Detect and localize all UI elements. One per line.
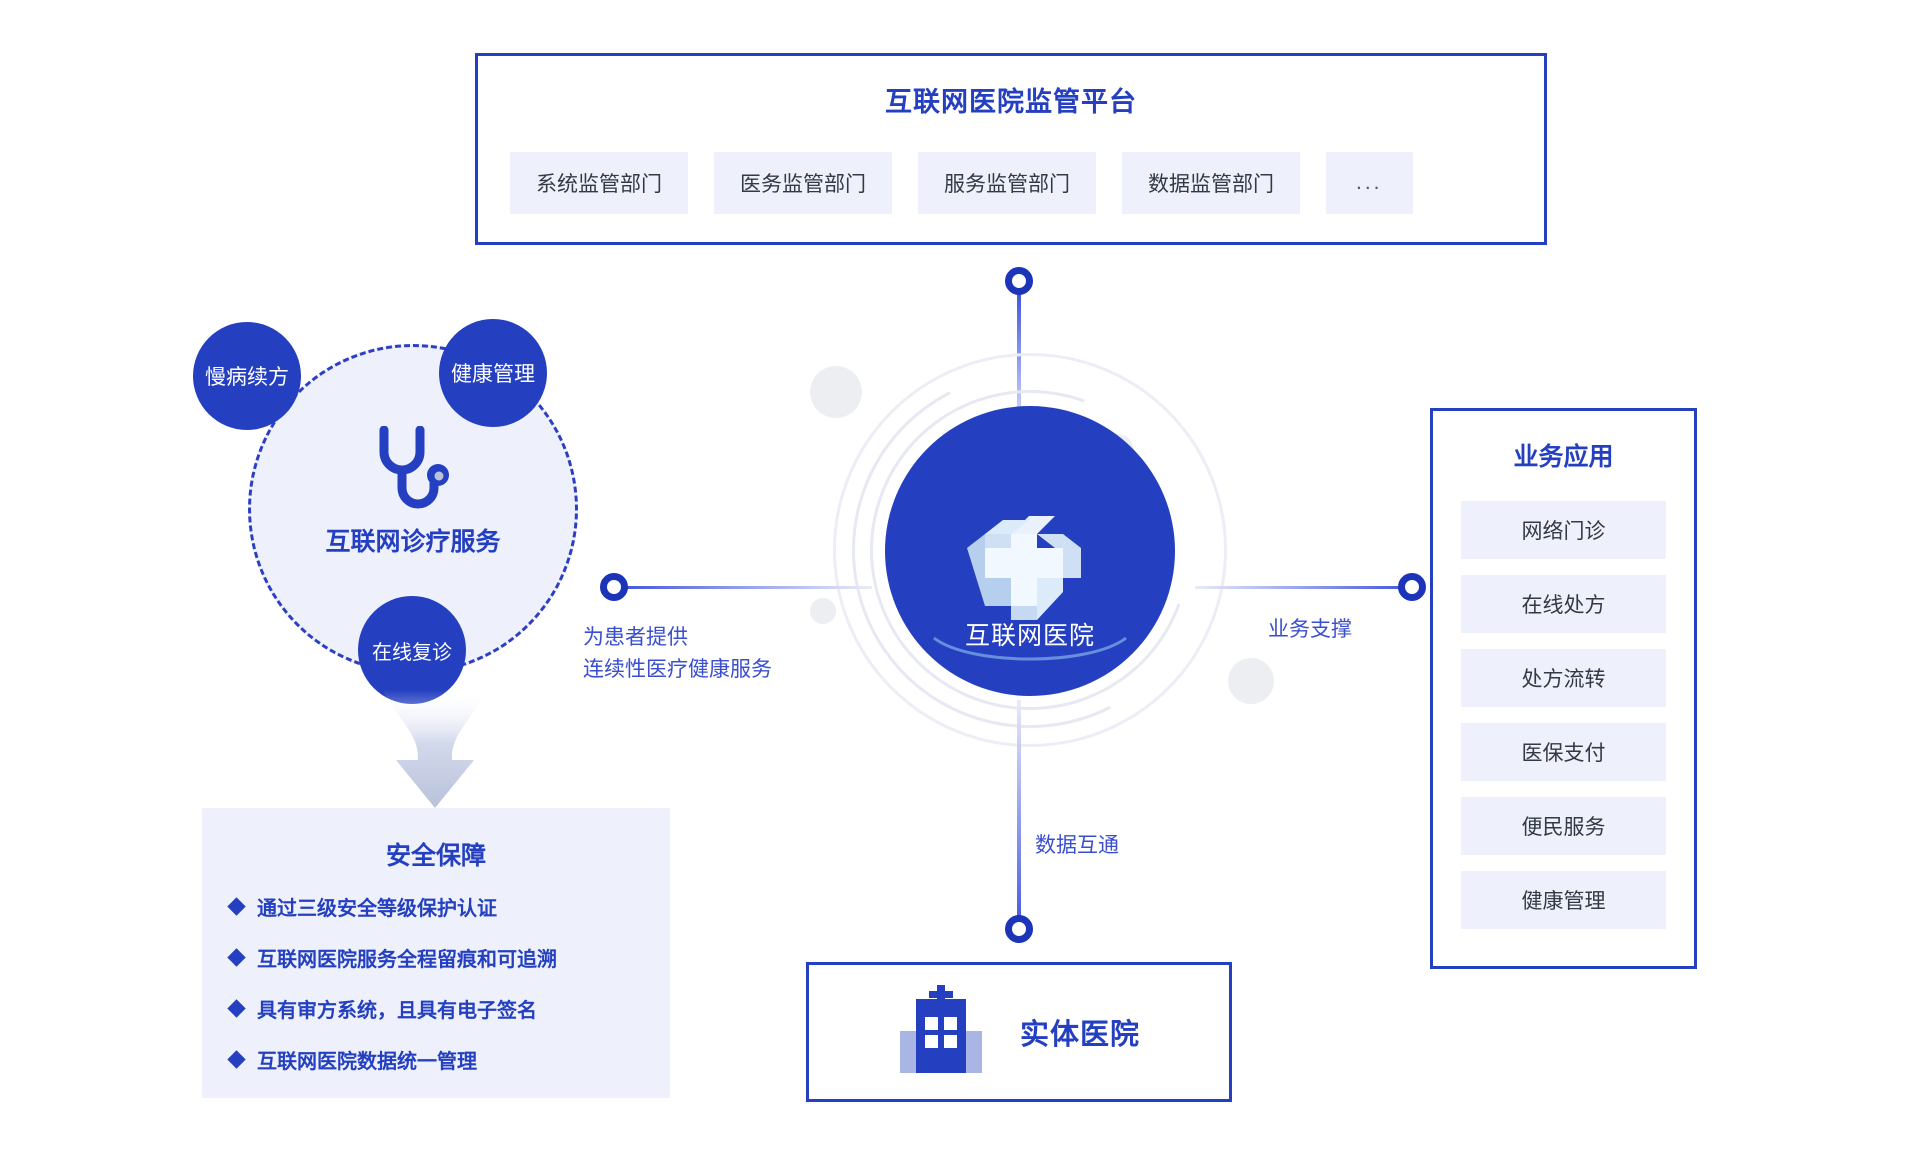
supervision-chip-service[interactable]: 服务监管部门 xyxy=(918,152,1096,214)
connector-node-top xyxy=(1005,267,1033,295)
supervision-department-chip-list: 系统监管部门 医务监管部门 服务监管部门 数据监管部门 ... xyxy=(510,152,1512,214)
connector-line-right xyxy=(1195,586,1409,589)
supervision-platform-title: 互联网医院监管平台 xyxy=(478,80,1544,119)
connector-line-left xyxy=(622,586,872,589)
list-item: 通过三级安全等级保护认证 xyxy=(230,892,660,921)
cluster-node-chronic-prescription[interactable]: 慢病续方 xyxy=(193,322,301,430)
stethoscope-icon xyxy=(376,426,452,521)
business-item-online-prescription[interactable]: 在线处方 xyxy=(1461,575,1666,633)
diamond-bullet-icon xyxy=(227,897,245,915)
connector-label-left-line2: 连续性医疗健康服务 xyxy=(583,654,772,686)
connector-line-bottom xyxy=(1017,700,1021,930)
medical-cross-3d-icon xyxy=(967,502,1093,627)
diagram-canvas: 互联网医院监管平台 系统监管部门 医务监管部门 服务监管部门 数据监管部门 ..… xyxy=(0,0,1929,1150)
supervision-platform-panel: 互联网医院监管平台 系统监管部门 医务监管部门 服务监管部门 数据监管部门 ..… xyxy=(475,53,1547,245)
supervision-chip-system[interactable]: 系统监管部门 xyxy=(510,152,688,214)
cluster-title: 互联网诊疗服务 xyxy=(248,522,578,558)
security-item-label: 互联网医院服务全程留痕和可追溯 xyxy=(257,943,557,972)
business-item-online-clinic[interactable]: 网络门诊 xyxy=(1461,501,1666,559)
entity-hospital-label: 实体医院 xyxy=(1020,1011,1140,1053)
security-item-label: 通过三级安全等级保护认证 xyxy=(257,892,497,921)
hub-label: 互联网医院 xyxy=(885,616,1175,652)
list-item: 互联网医院数据统一管理 xyxy=(230,1045,660,1074)
connector-node-left xyxy=(600,573,628,601)
business-application-title: 业务应用 xyxy=(1433,437,1694,473)
supervision-chip-medical[interactable]: 医务监管部门 xyxy=(714,152,892,214)
business-item-convenience-service[interactable]: 便民服务 xyxy=(1461,797,1666,855)
diamond-bullet-icon xyxy=(227,948,245,966)
diamond-bullet-icon xyxy=(227,1050,245,1068)
business-application-list: 网络门诊 在线处方 处方流转 医保支付 便民服务 健康管理 xyxy=(1461,501,1666,945)
internet-diagnosis-cluster: 互联网诊疗服务 慢病续方 健康管理 在线复诊 xyxy=(248,344,578,674)
security-item-label: 互联网医院数据统一管理 xyxy=(257,1045,477,1074)
funnel-arrow-down-icon xyxy=(380,690,490,815)
supervision-chip-more[interactable]: ... xyxy=(1326,152,1413,214)
security-item-label: 具有审方系统，且具有电子签名 xyxy=(257,994,537,1023)
business-item-insurance-payment[interactable]: 医保支付 xyxy=(1461,723,1666,781)
connector-label-right: 业务支撑 xyxy=(1268,614,1352,646)
connector-node-bottom xyxy=(1005,915,1033,943)
security-assurance-panel: 安全保障 通过三级安全等级保护认证 互联网医院服务全程留痕和可追溯 具有审方系统… xyxy=(202,808,670,1098)
entity-hospital-panel: 实体医院 xyxy=(806,962,1232,1102)
hub-core-circle[interactable]: 互联网医院 xyxy=(885,406,1175,696)
security-assurance-title: 安全保障 xyxy=(202,836,670,872)
connector-label-left: 为患者提供 连续性医疗健康服务 xyxy=(583,622,772,685)
hospital-building-icon xyxy=(898,985,984,1080)
internet-hospital-hub: 互联网医院 xyxy=(820,340,1240,760)
connector-label-left-line1: 为患者提供 xyxy=(583,622,772,654)
connector-label-bottom: 数据互通 xyxy=(1035,830,1119,862)
list-item: 互联网医院服务全程留痕和可追溯 xyxy=(230,943,660,972)
list-item: 具有审方系统，且具有电子签名 xyxy=(230,994,660,1023)
business-item-prescription-circulation[interactable]: 处方流转 xyxy=(1461,649,1666,707)
diamond-bullet-icon xyxy=(227,999,245,1017)
cluster-node-health-management[interactable]: 健康管理 xyxy=(439,319,547,427)
security-assurance-list: 通过三级安全等级保护认证 互联网医院服务全程留痕和可追溯 具有审方系统，且具有电… xyxy=(230,892,660,1096)
business-item-health-management[interactable]: 健康管理 xyxy=(1461,871,1666,929)
cluster-node-online-revisit[interactable]: 在线复诊 xyxy=(358,596,466,704)
supervision-chip-data[interactable]: 数据监管部门 xyxy=(1122,152,1300,214)
connector-node-right xyxy=(1398,573,1426,601)
business-application-panel: 业务应用 网络门诊 在线处方 处方流转 医保支付 便民服务 健康管理 xyxy=(1430,408,1697,969)
